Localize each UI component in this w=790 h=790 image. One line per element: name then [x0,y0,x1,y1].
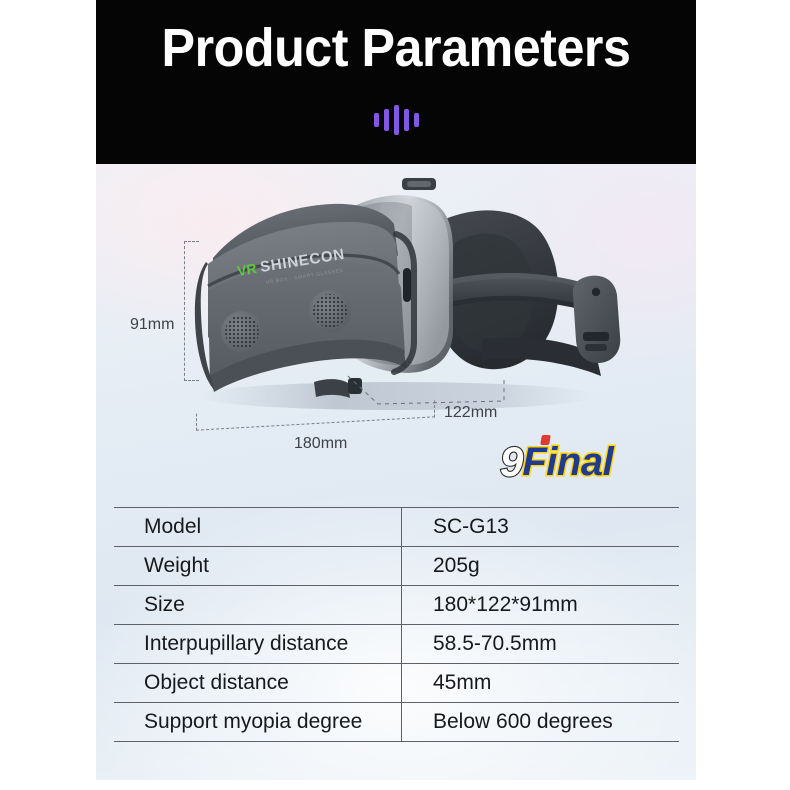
audio-waveform-icon [96,100,696,140]
spec-label: Model [114,515,401,539]
product-spec-table: Model SC-G13 Weight 205g Size 180*122*91… [114,507,679,742]
spec-value: SC-G13 [402,515,679,539]
product-image-stage: VR SHINECON VR BOX · SMART GLASSES 91m [96,164,696,494]
dimension-label-height: 91mm [130,316,174,334]
table-row: Size 180*122*91mm [114,585,679,624]
watermark-prefix: 9 [500,442,521,482]
spec-value: 58.5-70.5mm [402,632,679,656]
table-row: Model SC-G13 [114,507,679,546]
product-parameters-page: Product Parameters [0,0,790,790]
headset-top-hook [402,178,436,190]
spec-label: Weight [114,554,401,578]
spec-value: 180*122*91mm [402,593,679,617]
svg-text:VR: VR [236,260,258,279]
content-card: Product Parameters [96,0,696,780]
speaker-grille-right [309,290,351,332]
table-row: Weight 205g [114,546,679,585]
height-dimension-line [184,241,199,381]
dimension-label-depth: 122mm [444,404,497,422]
spec-value: Below 600 degrees [402,710,679,734]
spec-label: Object distance [114,671,401,695]
table-row: Support myopia degree Below 600 degrees [114,702,679,742]
headset-strap-buckle [573,276,620,363]
dimension-label-width: 180mm [294,435,347,453]
speaker-grille-left [221,311,263,353]
spec-label: Interpupillary distance [114,632,401,656]
spec-value: 205g [402,554,679,578]
spec-value: 45mm [402,671,679,695]
page-title: Product Parameters [117,17,675,79]
nine-final-watermark-logo: 9 Final [500,436,613,482]
header-banner: Product Parameters [96,0,696,164]
watermark-word: Final [522,442,613,482]
spec-label: Support myopia degree [114,710,401,734]
spec-label: Size [114,593,401,617]
table-row: Interpupillary distance 58.5-70.5mm [114,624,679,663]
watermark-dot-icon [540,435,551,445]
table-row: Object distance 45mm [114,663,679,702]
